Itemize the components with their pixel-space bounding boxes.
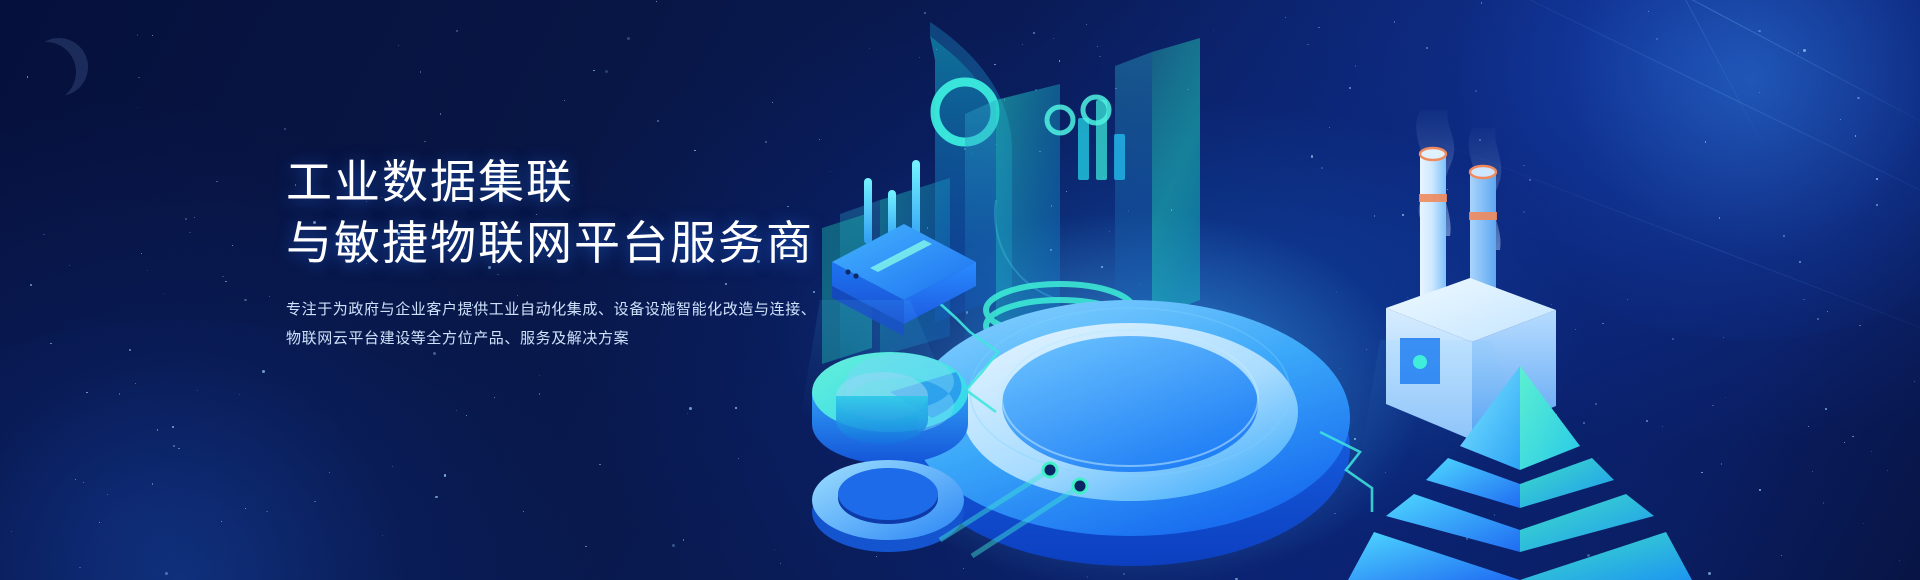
star-dot — [30, 284, 32, 286]
illustration-svg — [760, 0, 1920, 580]
star-dot — [738, 458, 739, 459]
star-dot — [456, 410, 457, 411]
star-dot — [173, 445, 174, 446]
star-dot — [185, 218, 187, 220]
star-dot — [172, 426, 174, 428]
star-dot — [75, 479, 76, 480]
star-dot — [687, 413, 688, 414]
star-dot — [232, 245, 233, 246]
star-dot — [239, 394, 240, 395]
star-dot — [163, 293, 164, 294]
star-dot — [456, 30, 458, 32]
star-dot — [141, 253, 142, 254]
star-dot — [266, 511, 267, 512]
subtitle-line-1: 专注于为政府与企业客户提供工业自动化集成、设备设施智能化改造与连接、 — [286, 296, 846, 325]
star-dot — [79, 567, 80, 568]
star-dot — [392, 466, 393, 467]
star-dot — [424, 141, 425, 142]
hero-illustration — [760, 0, 1920, 580]
glass-data-tower-right — [1115, 38, 1200, 330]
star-dot — [119, 393, 120, 394]
star-dot — [494, 397, 495, 398]
star-dot — [152, 35, 153, 36]
star-dot — [656, 1, 657, 2]
star-dot — [689, 407, 692, 410]
star-dot — [244, 299, 246, 301]
headline-line-2: 与敏捷物联网平台服务商 — [286, 213, 846, 274]
star-dot — [221, 521, 222, 522]
star-dot — [539, 375, 540, 376]
hero-banner: 工业数据集联 与敏捷物联网平台服务商 专注于为政府与企业客户提供工业自动化集成、… — [0, 0, 1920, 580]
star-dot — [694, 150, 695, 151]
star-dot — [157, 429, 158, 430]
star-dot — [564, 100, 565, 101]
star-dot — [605, 70, 608, 73]
star-dot — [585, 546, 586, 547]
star-dot — [83, 482, 84, 483]
star-dot — [329, 472, 330, 473]
star-dot — [599, 464, 600, 465]
star-dot — [69, 265, 70, 266]
star-dot — [382, 535, 383, 536]
headline-line-1: 工业数据集联 — [286, 152, 846, 213]
star-dot — [197, 390, 198, 391]
star-dot — [99, 522, 100, 523]
star-dot — [27, 76, 28, 77]
star-dot — [262, 370, 265, 373]
star-dot — [189, 232, 190, 233]
star-dot — [11, 531, 12, 532]
star-dot — [194, 217, 195, 218]
star-dot — [440, 113, 441, 114]
star-dot — [137, 34, 138, 35]
star-dot — [152, 483, 153, 484]
star-dot — [435, 496, 437, 498]
star-dot — [129, 349, 131, 351]
star-dot — [444, 474, 446, 476]
star-dot — [245, 508, 246, 509]
star-dot — [107, 494, 108, 495]
star-dot — [216, 181, 217, 182]
star-dot — [314, 501, 315, 502]
star-dot — [593, 70, 594, 71]
star-dot — [165, 572, 168, 575]
star-dot — [627, 37, 630, 40]
hero-subtitle: 专注于为政府与企业客户提供工业自动化集成、设备设施智能化改造与连接、 物联网云平… — [286, 296, 846, 354]
star-dot — [50, 343, 51, 344]
star-dot — [420, 71, 421, 72]
star-dot — [86, 392, 87, 393]
star-dot — [735, 407, 736, 408]
star-dot — [672, 544, 675, 547]
star-dot — [539, 393, 540, 394]
page-title: 工业数据集联 与敏捷物联网平台服务商 — [286, 152, 846, 274]
star-dot — [523, 511, 524, 512]
subtitle-line-2: 物联网云平台建设等全方位产品、服务及解决方案 — [286, 325, 846, 354]
central-disc-platform — [910, 300, 1350, 566]
star-dot — [657, 120, 658, 121]
star-dot — [138, 77, 139, 78]
star-dot — [147, 270, 148, 271]
star-dot — [137, 107, 138, 108]
star-dot — [683, 539, 684, 540]
star-dot — [43, 234, 44, 235]
star-dot — [284, 128, 285, 129]
star-dot — [222, 276, 223, 277]
hero-copy: 工业数据集联 与敏捷物联网平台服务商 专注于为政府与企业客户提供工业自动化集成、… — [286, 152, 846, 354]
star-dot — [398, 45, 399, 46]
star-dot — [466, 415, 467, 416]
star-dot — [225, 281, 226, 282]
star-dot — [178, 448, 179, 449]
star-dot — [135, 383, 136, 384]
star-dot — [269, 296, 270, 297]
